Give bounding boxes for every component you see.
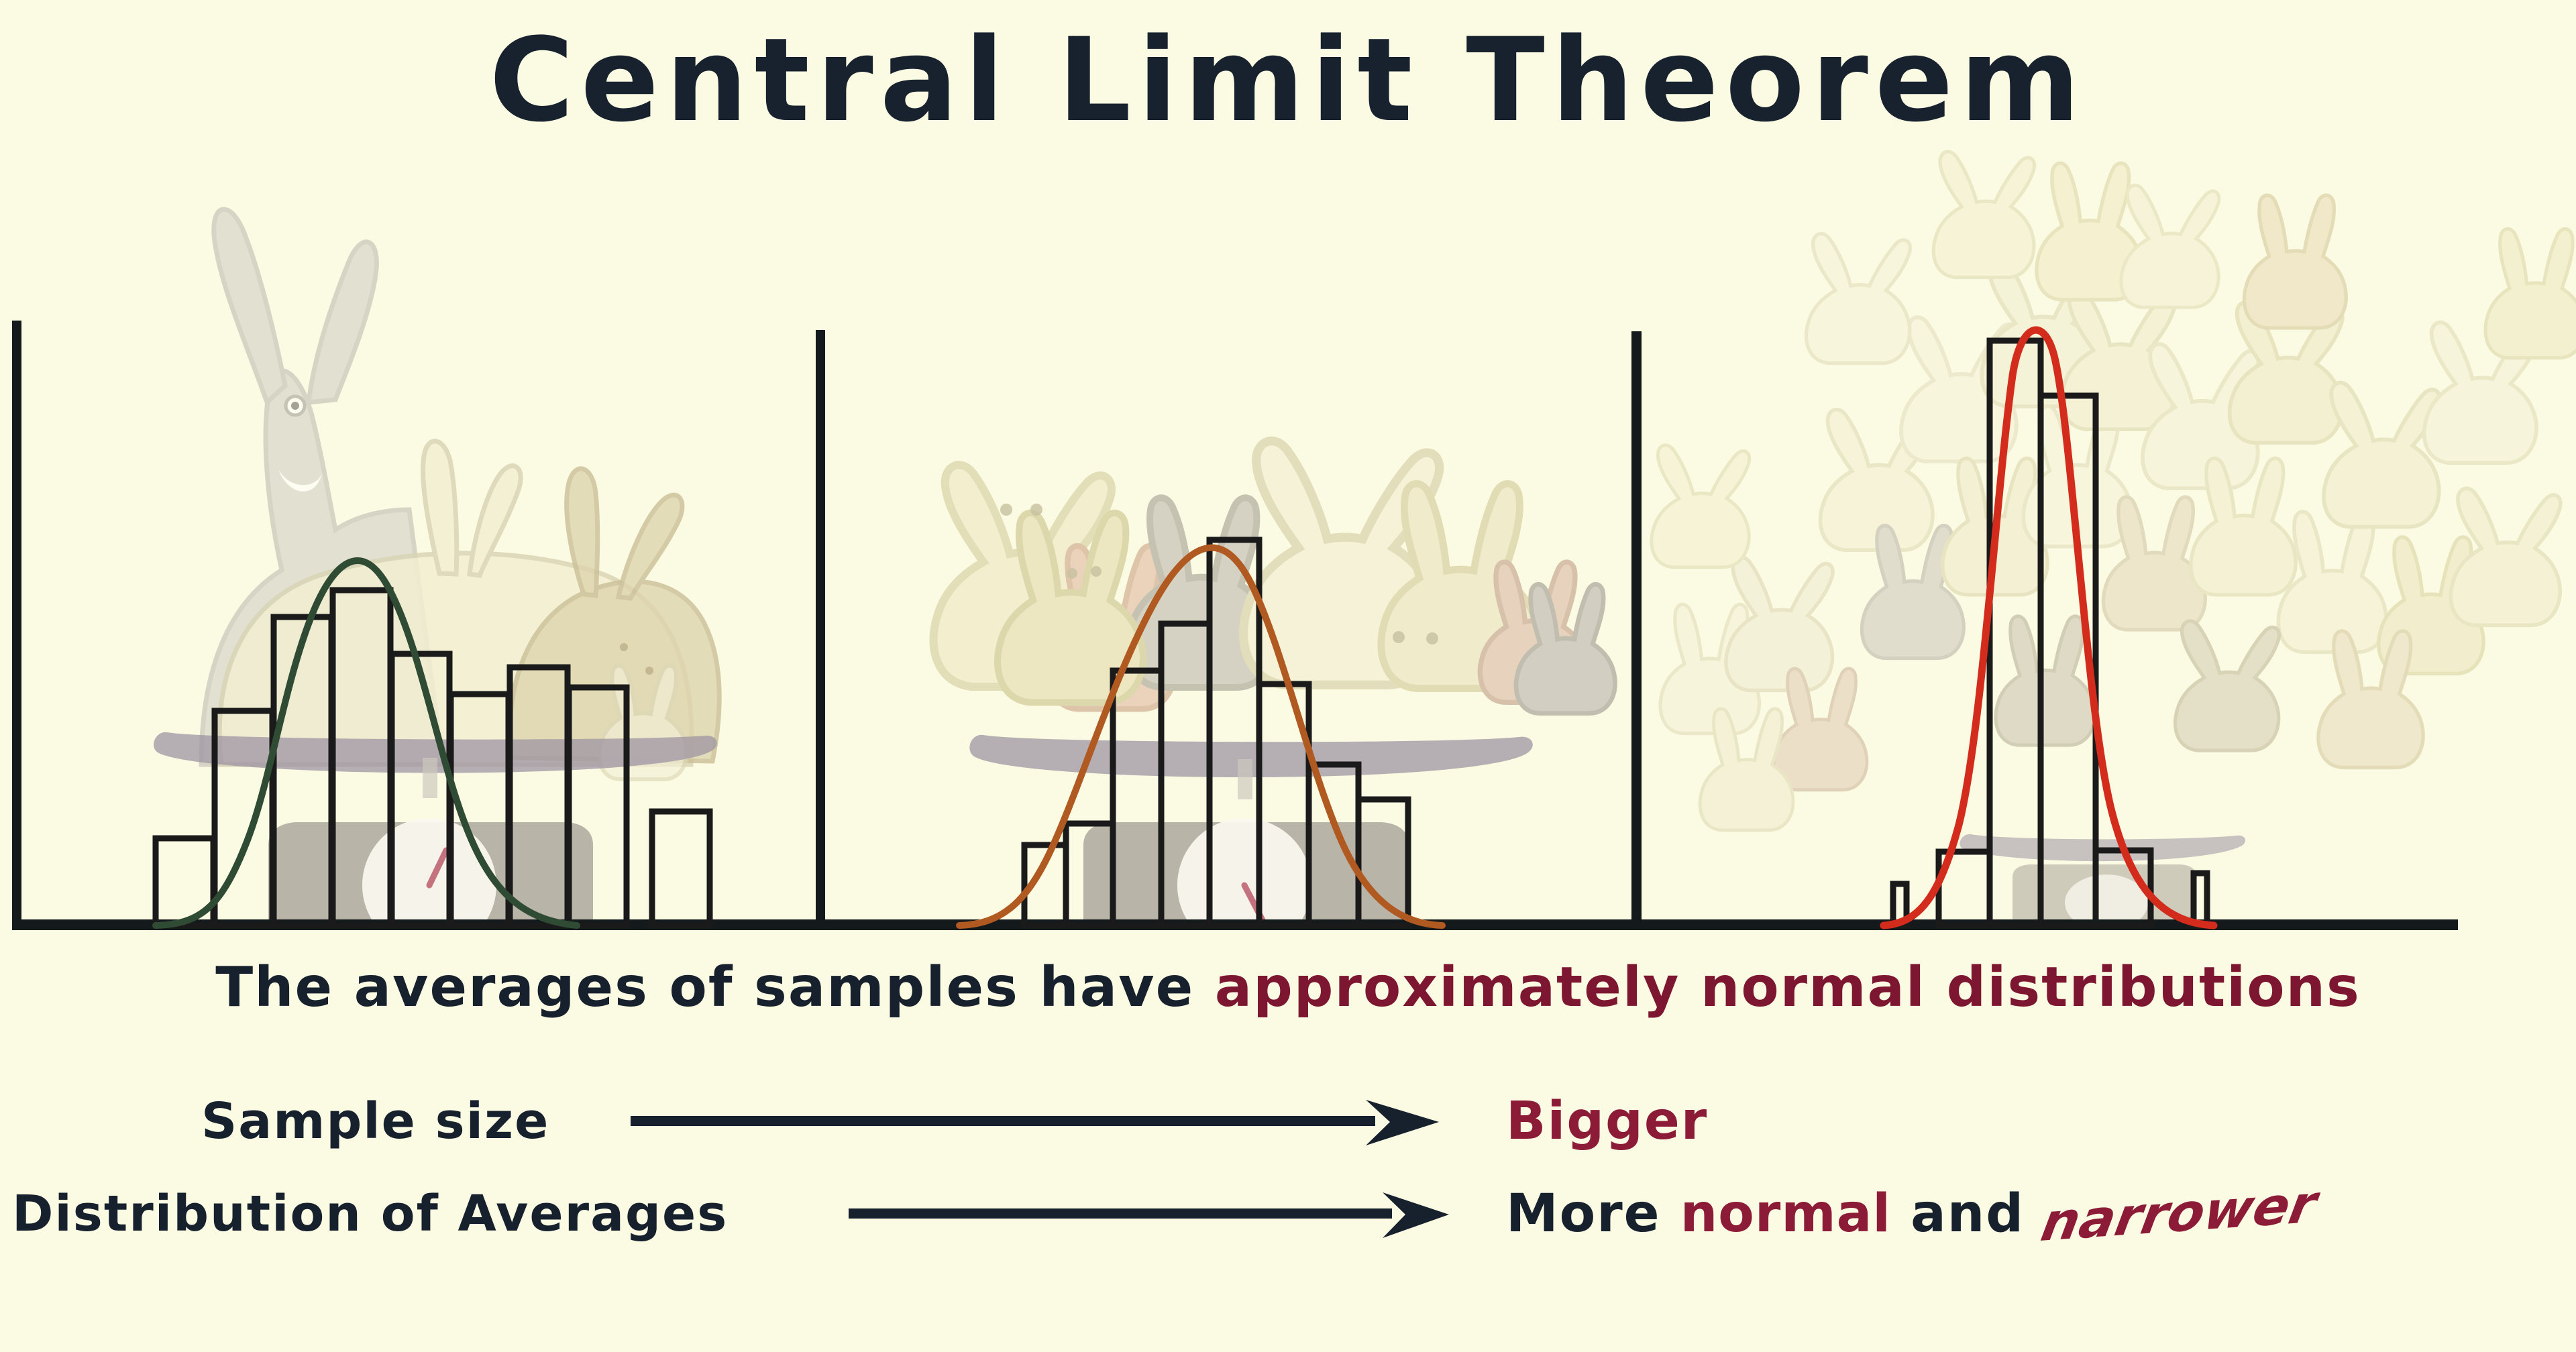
row-value-middle: and [1891,1184,2044,1244]
panel-1-background-art [154,209,719,952]
right-arrow-icon-1 [631,1081,1449,1162]
row-value-accent-bigger: Bigger [1506,1091,1708,1151]
row-value-distribution: More normal and narrower [1506,1174,2314,1254]
caption-part-plain: The averages of samples have [215,956,1215,1019]
y-axis-left [12,321,21,925]
caption-line: The averages of samples have approximate… [0,960,2576,1015]
chart-area [0,0,2576,972]
row-label-sample-size: Sample size [201,1081,549,1162]
panel-separator-1 [816,330,825,925]
panel-separator-2 [1631,331,1642,925]
three-panel-histogram-svg [0,0,2576,972]
relationship-row-distribution: Distribution of Averages More normal and… [0,1174,2576,1254]
row-value-sample-size: Bigger [1506,1081,1708,1162]
row-value-accent-normal: normal [1680,1174,1891,1254]
row-value-accent-narrower: narrower [2035,1164,2324,1263]
illustration-canvas: Central Limit Theorem [0,0,2576,1352]
caption-part-accent: approximately normal distributions [1215,956,2361,1019]
row-label-distribution-of-averages: Distribution of Averages [12,1174,728,1254]
relationship-row-sample-size: Sample size Bigger [0,1081,2576,1162]
row-value-prefix: More [1506,1184,1680,1244]
right-arrow-icon-2 [849,1174,1456,1254]
